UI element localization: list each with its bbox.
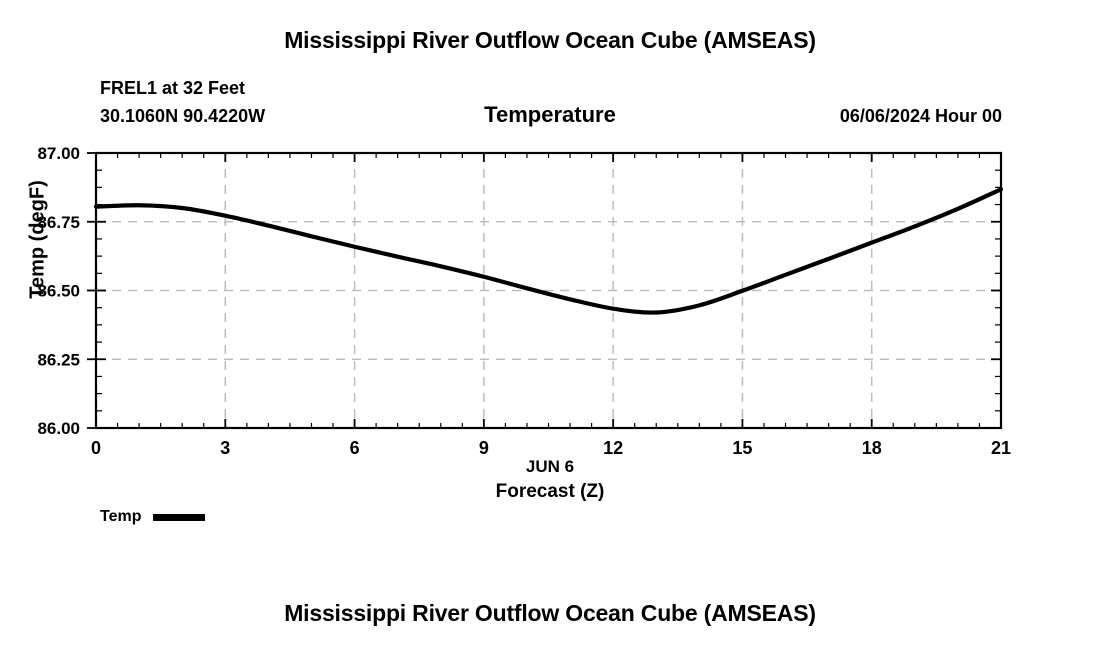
x-tick-label: 21 — [991, 438, 1011, 458]
legend-line-swatch — [153, 514, 205, 521]
gridlines — [96, 153, 1001, 428]
x-tick-labels: 036912151821 — [91, 438, 1011, 458]
x-tick-label: 18 — [862, 438, 882, 458]
line-chart-svg: 86.0086.2586.5086.7587.00 036912151821 — [0, 0, 1100, 650]
series-lines — [96, 189, 1001, 312]
x-tick-label: 3 — [220, 438, 230, 458]
legend: Temp — [100, 508, 205, 526]
y-axis-label: Temp (degF) — [27, 140, 50, 340]
x-tick-label: 9 — [479, 438, 489, 458]
x-tick-label: 6 — [350, 438, 360, 458]
y-tick-label: 86.00 — [37, 419, 80, 438]
x-tick-label: 15 — [732, 438, 752, 458]
x-axis-day-label: JUN 6 — [0, 457, 1100, 477]
x-tick-label: 0 — [91, 438, 101, 458]
x-tick-label: 12 — [603, 438, 623, 458]
plot-area: 86.0086.2586.5086.7587.00 036912151821 — [0, 0, 1100, 650]
y-tick-label: 86.25 — [37, 350, 80, 369]
legend-item-label: Temp — [100, 508, 141, 526]
chart-page: Mississippi River Outflow Ocean Cube (AM… — [0, 0, 1100, 650]
page-title-bottom: Mississippi River Outflow Ocean Cube (AM… — [0, 600, 1100, 627]
series-line-temp — [96, 189, 1001, 312]
x-axis-label: Forecast (Z) — [0, 481, 1100, 503]
